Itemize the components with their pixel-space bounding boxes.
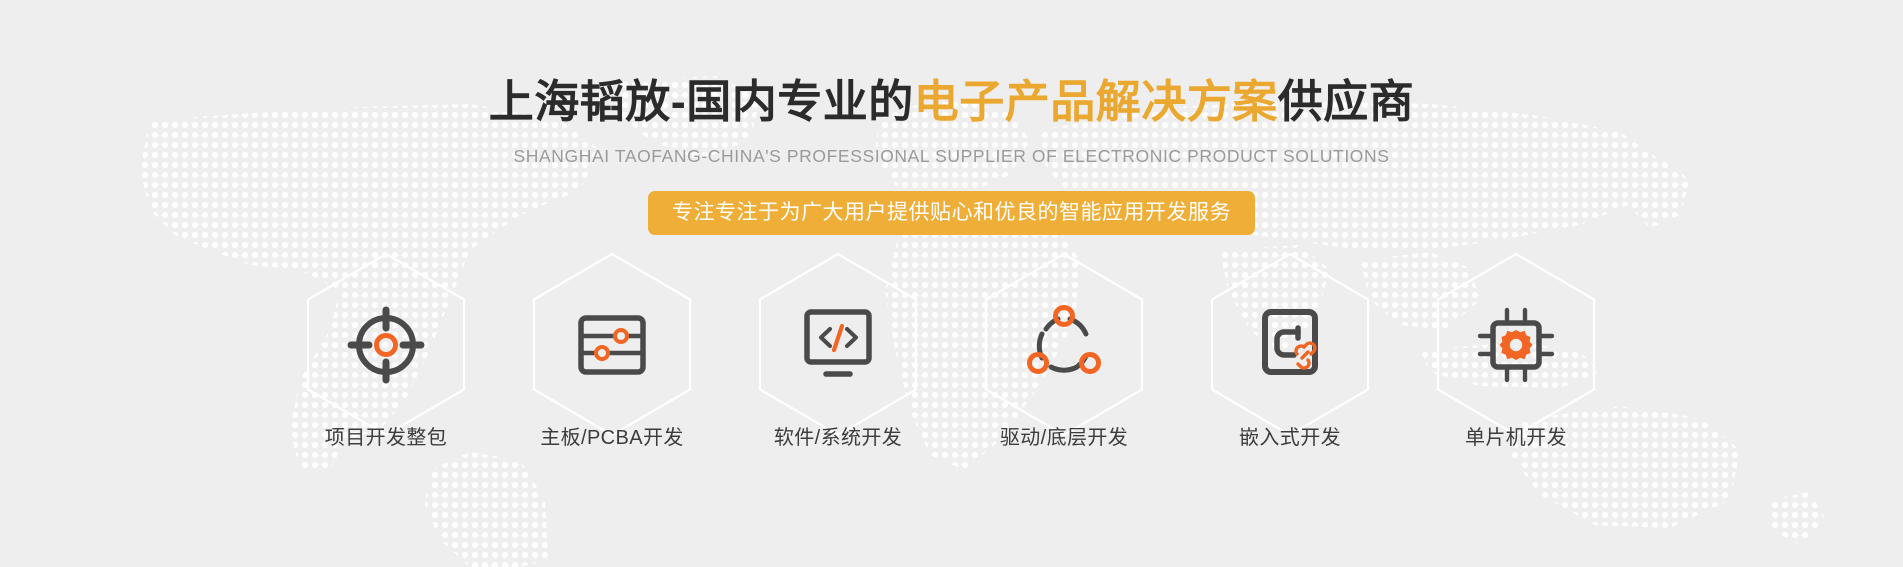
service-label-software-system: 软件/系统开发 [758, 425, 918, 451]
service-item-driver-lowlevel[interactable] [984, 252, 1144, 437]
service-label-project-package: 项目开发整包 [306, 425, 466, 451]
service-label-driver-lowlevel: 驱动/底层开发 [984, 425, 1144, 451]
headline-highlight: 电子产品解决方案 [914, 76, 1278, 127]
headline-part-3: 供应商 [1278, 76, 1415, 127]
hero-banner: 上海韬放-国内专业的电子产品解决方案供应商 SHANGHAI TAOFANG-C… [0, 0, 1903, 567]
service-label-pcba: 主板/PCBA开发 [532, 425, 692, 451]
page-subtitle: SHANGHAI TAOFANG-CHINA'S PROFESSIONAL SU… [0, 146, 1903, 167]
crosshair-target-icon [338, 302, 434, 388]
service-item-software-system[interactable] [758, 252, 918, 437]
tagline-badge: 专注专注于为广大用户提供贴心和优良的智能应用开发服务 [648, 191, 1255, 235]
monitor-code-icon [790, 302, 886, 388]
node-network-icon [1016, 302, 1112, 388]
page-title: 上海韬放-国内专业的电子产品解决方案供应商 [0, 76, 1903, 128]
chip-link-icon [1242, 302, 1338, 388]
service-label-row: 项目开发整包 主板/PCBA开发 软件/系统开发 驱动/底层开发 嵌入式开发 单… [306, 425, 1596, 451]
tagline-badge-wrapper: 专注专注于为广大用户提供贴心和优良的智能应用开发服务 [0, 191, 1903, 235]
service-item-embedded[interactable] [1210, 252, 1370, 437]
headline-part-1: 上海韬放-国内专业的 [489, 76, 914, 127]
service-item-pcba[interactable] [532, 252, 692, 437]
service-icon-row [306, 252, 1596, 437]
service-label-mcu: 单片机开发 [1436, 425, 1596, 451]
pcb-board-icon [564, 302, 660, 388]
mcu-gear-icon [1468, 302, 1564, 388]
service-item-project-package[interactable] [306, 252, 466, 437]
service-item-mcu[interactable] [1436, 252, 1596, 437]
service-label-embedded: 嵌入式开发 [1210, 425, 1370, 451]
